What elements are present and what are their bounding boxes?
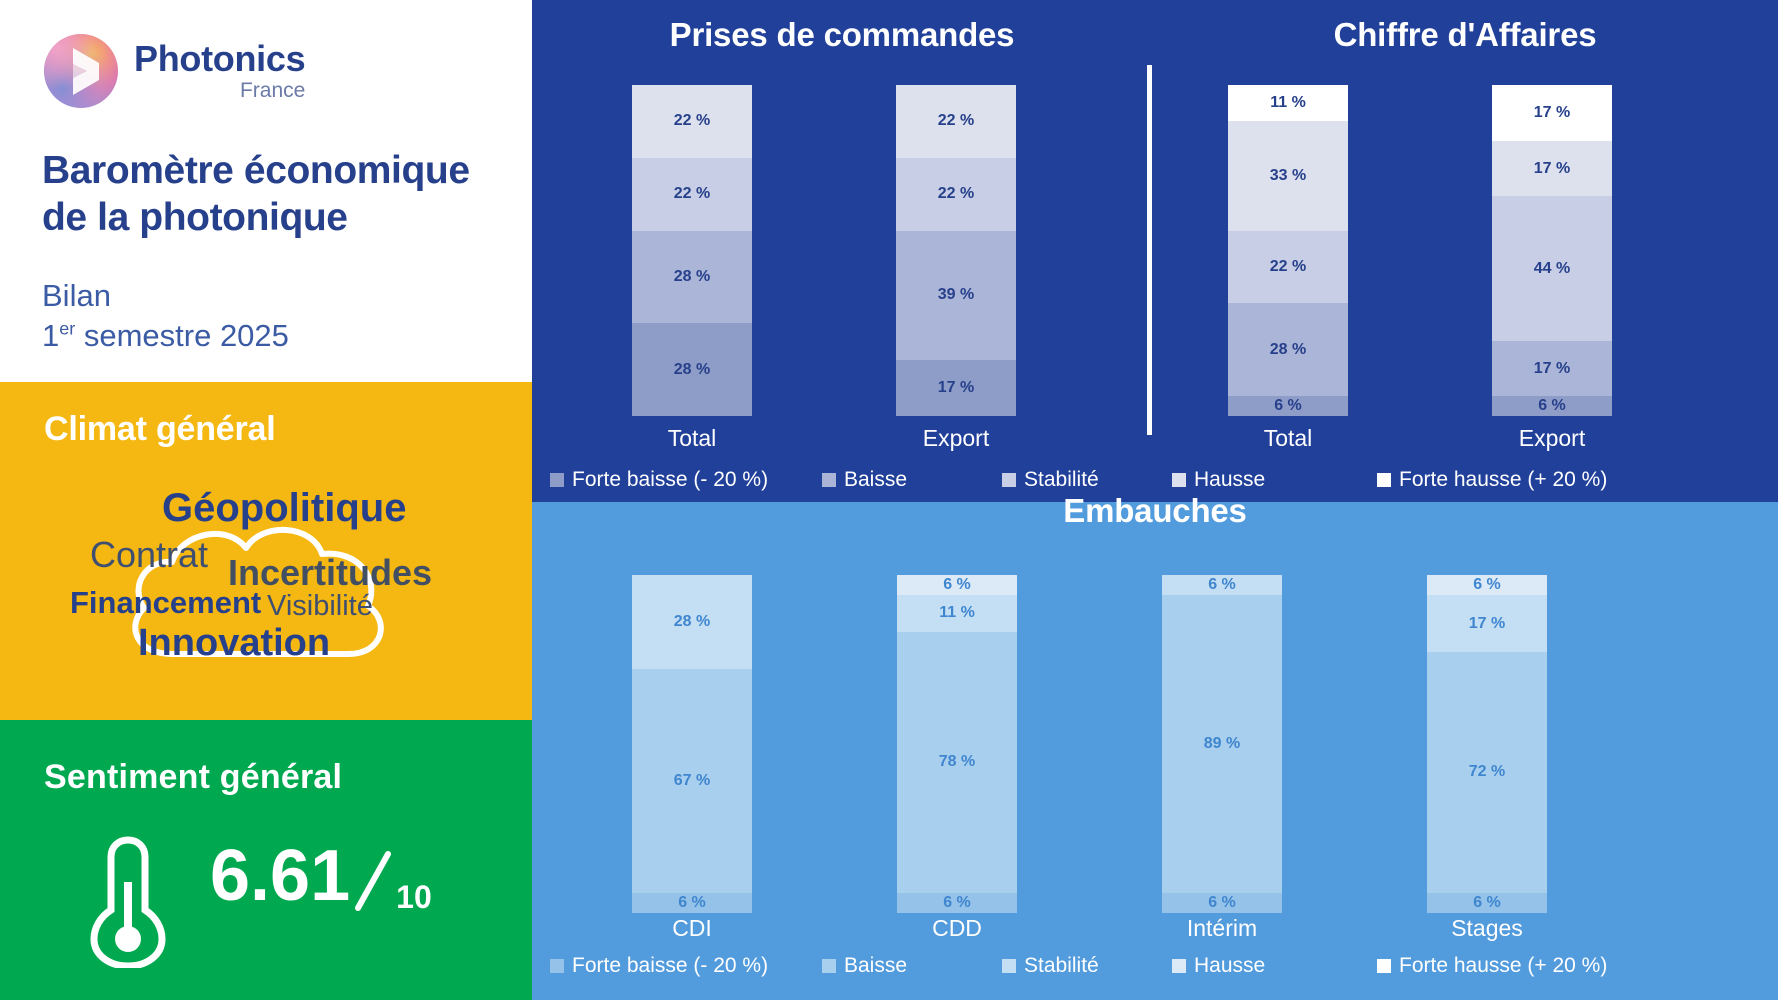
thermometer-icon xyxy=(84,832,172,968)
word-visibilite: Visibilité xyxy=(267,590,373,623)
legend-label: Hausse xyxy=(1194,468,1265,492)
bar-segment: 28 % xyxy=(632,575,752,669)
legend-item-baisse[interactable]: Baisse xyxy=(822,468,907,492)
bar-segment: 28 % xyxy=(632,323,752,416)
bar-segment: 28 % xyxy=(632,231,752,324)
bar-segment: 6 % xyxy=(1427,893,1547,913)
stacked-bar-cdi: 28 %67 %6 % xyxy=(632,575,752,913)
legend-item-hausse[interactable]: Hausse xyxy=(1172,954,1265,978)
category-label-total: Total xyxy=(592,425,792,452)
stacked-bar-export: 22 %22 %39 %17 % xyxy=(896,85,1016,416)
bar-segment: 39 % xyxy=(896,231,1016,360)
legend-label: Forte hausse (+ 20 %) xyxy=(1399,954,1607,978)
chart-title-chiffre-d-affaires: Chiffre d'Affaires xyxy=(1152,16,1778,54)
left-sidebar: Photonics France Baromètre économique de… xyxy=(0,0,532,1000)
subtitle-line2-ordinal: er xyxy=(59,318,75,338)
page-title-line2: de la photonique xyxy=(42,196,348,239)
bar-segment: 67 % xyxy=(632,669,752,893)
brand-logo: Photonics France xyxy=(42,32,305,110)
sentiment-score-value: 6.61 xyxy=(210,840,350,912)
legend-swatch-icon xyxy=(1377,473,1391,487)
legend-swatch-icon xyxy=(822,473,836,487)
word-innovation: Innovation xyxy=(138,622,330,665)
legend-label: Forte baisse (- 20 %) xyxy=(572,468,768,492)
stacked-bar-int-rim: 6 %89 %6 % xyxy=(1162,575,1282,913)
bar-segment: 44 % xyxy=(1492,196,1612,340)
header-panel: Photonics France Baromètre économique de… xyxy=(0,0,532,382)
sentiment-score-max: 10 xyxy=(396,879,432,916)
subtitle-line1: Bilan xyxy=(42,278,111,313)
logo-subtitle: France xyxy=(134,80,305,101)
bar-segment: 72 % xyxy=(1427,652,1547,893)
legend-bottom: Forte baisse (- 20 %)BaisseStabilitéHaus… xyxy=(532,954,1778,980)
legend-label: Stabilité xyxy=(1024,468,1099,492)
legend-label: Baisse xyxy=(844,468,907,492)
legend-top: Forte baisse (- 20 %)BaisseStabilitéHaus… xyxy=(532,468,1778,494)
bar-segment: 28 % xyxy=(1228,303,1348,396)
score-slash-icon xyxy=(352,850,398,912)
bar-segment: 22 % xyxy=(632,158,752,231)
bar-segment: 22 % xyxy=(1228,231,1348,304)
climat-general-panel: Climat général Géopolitique Contrat Ince… xyxy=(0,382,532,720)
bar-segment: 6 % xyxy=(1162,893,1282,913)
bar-segment: 6 % xyxy=(897,893,1017,913)
legend-label: Forte baisse (- 20 %) xyxy=(572,954,768,978)
legend-swatch-icon xyxy=(822,959,836,973)
sentiment-score: 6.61 10 xyxy=(210,840,432,912)
stacked-bar-cdd: 6 %11 %78 %6 % xyxy=(897,575,1017,913)
legend-item-hausse[interactable]: Hausse xyxy=(1172,468,1265,492)
bar-segment: 22 % xyxy=(896,158,1016,231)
sentiment-general-title: Sentiment général xyxy=(44,758,342,797)
legend-swatch-icon xyxy=(550,473,564,487)
bar-segment: 17 % xyxy=(1492,141,1612,197)
legend-item-baisse[interactable]: Baisse xyxy=(822,954,907,978)
bar-segment: 22 % xyxy=(896,85,1016,158)
legend-swatch-icon xyxy=(550,959,564,973)
legend-item-forte_hausse[interactable]: Forte hausse (+ 20 %) xyxy=(1377,954,1607,978)
bar-segment: 17 % xyxy=(1492,341,1612,397)
word-financement: Financement xyxy=(70,585,261,621)
subtitle-line2-rest: semestre 2025 xyxy=(75,318,289,353)
stacked-bar-stages: 6 %17 %72 %6 % xyxy=(1427,575,1547,913)
bar-segment: 6 % xyxy=(1427,575,1547,595)
category-label-total: Total xyxy=(1188,425,1388,452)
stacked-bar-total: 11 %33 %22 %28 %6 % xyxy=(1228,85,1348,416)
embauches-panel: Embauches 28 %67 %6 %CDI6 %11 %78 %6 %CD… xyxy=(532,502,1778,1000)
logo-wordmark: Photonics xyxy=(134,41,305,77)
legend-label: Hausse xyxy=(1194,954,1265,978)
bar-segment: 78 % xyxy=(897,632,1017,893)
category-label-stages: Stages xyxy=(1387,915,1587,942)
photonics-circle-logo-icon xyxy=(42,32,120,110)
page-subtitle: Bilan 1er semestre 2025 xyxy=(42,276,512,355)
category-label-int-rim: Intérim xyxy=(1122,915,1322,942)
legend-item-forte_baisse[interactable]: Forte baisse (- 20 %) xyxy=(550,954,768,978)
chart-title-embauches: Embauches xyxy=(532,492,1778,530)
subtitle-line2-number: 1 xyxy=(42,318,59,353)
bar-segment: 6 % xyxy=(1228,396,1348,416)
legend-swatch-icon xyxy=(1377,959,1391,973)
bar-segment: 6 % xyxy=(1492,396,1612,416)
legend-item-forte_hausse[interactable]: Forte hausse (+ 20 %) xyxy=(1377,468,1607,492)
sentiment-general-panel: Sentiment général 6.61 10 xyxy=(0,720,532,1000)
top-charts-panel: Prises de commandes Chiffre d'Affaires 2… xyxy=(532,0,1778,502)
bar-segment: 17 % xyxy=(1427,595,1547,652)
bar-segment: 17 % xyxy=(1492,85,1612,141)
bar-segment: 22 % xyxy=(632,85,752,158)
word-geopolitique: Géopolitique xyxy=(162,486,406,531)
legend-swatch-icon xyxy=(1002,473,1016,487)
stacked-bar-total: 22 %22 %28 %28 % xyxy=(632,85,752,416)
legend-label: Stabilité xyxy=(1024,954,1099,978)
bar-segment: 6 % xyxy=(1162,575,1282,595)
category-label-cdd: CDD xyxy=(857,915,1057,942)
bar-segment: 89 % xyxy=(1162,595,1282,893)
legend-swatch-icon xyxy=(1002,959,1016,973)
legend-item-stabilite[interactable]: Stabilité xyxy=(1002,954,1099,978)
category-label-export: Export xyxy=(1452,425,1652,452)
legend-item-forte_baisse[interactable]: Forte baisse (- 20 %) xyxy=(550,468,768,492)
page-title: Baromètre économique de la photonique xyxy=(42,148,512,242)
category-label-export: Export xyxy=(856,425,1056,452)
bar-segment: 11 % xyxy=(897,595,1017,632)
bar-segment: 17 % xyxy=(896,360,1016,416)
word-contrat: Contrat xyxy=(90,534,208,576)
stacked-bar-export: 17 %17 %44 %17 %6 % xyxy=(1492,85,1612,416)
page-title-line1: Baromètre économique xyxy=(42,149,470,192)
chart-title-prises-de-commandes: Prises de commandes xyxy=(532,16,1152,54)
bar-segment: 6 % xyxy=(632,893,752,913)
climat-general-title: Climat général xyxy=(44,410,276,449)
legend-swatch-icon xyxy=(1172,959,1186,973)
legend-swatch-icon xyxy=(1172,473,1186,487)
legend-label: Baisse xyxy=(844,954,907,978)
bar-segment: 6 % xyxy=(897,575,1017,595)
legend-item-stabilite[interactable]: Stabilité xyxy=(1002,468,1099,492)
chart-divider xyxy=(1147,65,1152,435)
bar-segment: 33 % xyxy=(1228,121,1348,230)
bar-segment: 11 % xyxy=(1228,85,1348,121)
category-label-cdi: CDI xyxy=(592,915,792,942)
legend-label: Forte hausse (+ 20 %) xyxy=(1399,468,1607,492)
